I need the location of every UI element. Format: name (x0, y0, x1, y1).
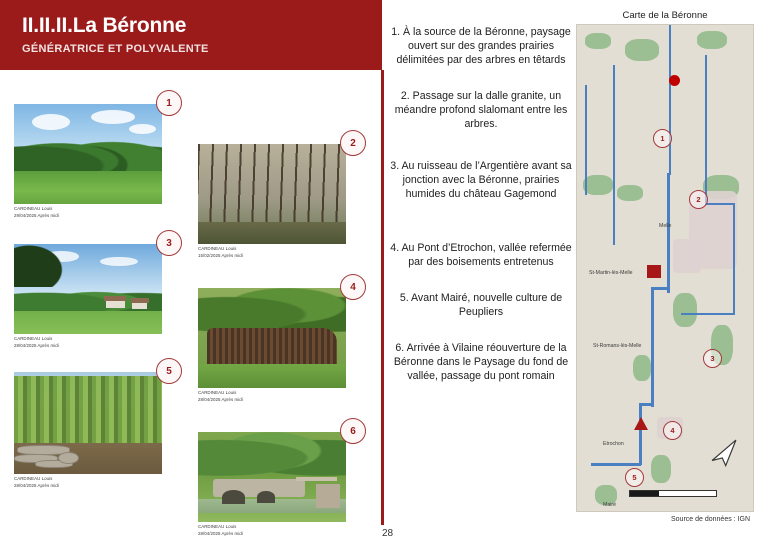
photo-image-1 (14, 104, 162, 204)
legend-item-2: 2. Passage sur la dalle granite, un méan… (388, 90, 574, 132)
legend-item-5: 5. Avant Mairé, nouvelle culture de Peup… (388, 292, 574, 320)
map-badge-1: 1 (653, 129, 672, 148)
map-marker-square (647, 265, 661, 278)
map-source-caption: Source de données : IGN (576, 516, 754, 523)
photo-credit-4: CARDINEAU Louis (198, 390, 346, 397)
photo-badge-2: 2 (340, 130, 366, 156)
photo-block-2: CARDINEAU Louis 15/02/2025 Après midi 2 (198, 144, 346, 259)
map-scale-bar (629, 490, 717, 497)
photo-date-6: 28/04/2025 Après midi (198, 531, 346, 538)
photo-block-3: CARDINEAU Louis 28/04/2025 Après midi 3 (14, 244, 162, 349)
legend-column: 1. À la source de la Béronne, paysage ou… (388, 26, 574, 406)
photo-image-4 (198, 288, 346, 388)
north-arrow-icon (707, 435, 741, 469)
map-label-st-romans: St-Romans-lès-Melle (593, 343, 641, 349)
legend-item-1: 1. À la source de la Béronne, paysage ou… (388, 26, 574, 68)
photo-block-4: CARDINEAU Louis 28/04/2025 Après midi 4 (198, 288, 346, 403)
photo-credit-3: CARDINEAU Louis (14, 336, 162, 343)
page-number: 28 (382, 528, 393, 539)
legend-item-4: 4. Au Pont d’Etrochon, vallée refermée p… (388, 242, 574, 270)
map-marker-triangle (634, 417, 648, 430)
photo-image-5 (14, 372, 162, 474)
photo-image-3 (14, 244, 162, 334)
photo-badge-6: 6 (340, 418, 366, 444)
photo-date-3: 28/04/2025 Après midi (14, 343, 162, 350)
map-badge-4: 4 (663, 421, 682, 440)
photo-date-2: 15/02/2025 Après midi (198, 253, 346, 260)
map-panel[interactable]: Melle St-Martin-lès-Melle St-Romans-lès-… (576, 24, 754, 512)
map-title: Carte de la Béronne (576, 10, 754, 21)
map-label-etrochon: Etrochon (603, 441, 624, 447)
photo-date-5: 28/04/2025 Après midi (14, 483, 162, 490)
photo-date-1: 29/04/2025 Après midi (14, 213, 162, 220)
photo-badge-4: 4 (340, 274, 366, 300)
photo-block-6: CARDINEAU Louis 28/04/2025 Après midi 6 (198, 432, 346, 537)
vertical-divider (381, 70, 384, 525)
map-canvas[interactable]: Melle St-Martin-lès-Melle St-Romans-lès-… (576, 24, 754, 512)
legend-item-3: 3. Au ruisseau de l’Argentière avant sa … (388, 160, 574, 202)
photo-badge-3: 3 (156, 230, 182, 256)
photo-credit-6: CARDINEAU Louis (198, 524, 346, 531)
photo-date-4: 28/04/2025 Après midi (198, 397, 346, 404)
map-label-melle: Melle (659, 223, 671, 229)
page-subtitle: GÉNÉRATRICE ET POLYVALENTE (22, 43, 209, 55)
photo-block-5: CARDINEAU Louis 28/04/2025 Après midi 5 (14, 372, 162, 489)
map-badge-2: 2 (689, 190, 708, 209)
map-label-st-martin: St-Martin-lès-Melle (589, 270, 633, 276)
photo-credit-5: CARDINEAU Louis (14, 476, 162, 483)
photo-badge-1: 1 (156, 90, 182, 116)
photo-badge-5: 5 (156, 358, 182, 384)
photo-image-6 (198, 432, 346, 522)
photo-credit-2: CARDINEAU Louis (198, 246, 346, 253)
legend-item-6: 6. Arrivée à Vilaine réouverture de la B… (388, 342, 574, 384)
map-badge-3: 3 (703, 349, 722, 368)
map-marker-point (669, 75, 680, 86)
map-label-maire: Mairé (603, 502, 616, 508)
map-badge-5: 5 (625, 468, 644, 487)
photo-block-1: CARDINEAU Louis 29/04/2025 Après midi 1 (14, 104, 162, 219)
photo-image-2 (198, 144, 346, 244)
photo-credit-1: CARDINEAU Louis (14, 206, 162, 213)
page-title: II.II.II.La Béronne (22, 14, 186, 38)
